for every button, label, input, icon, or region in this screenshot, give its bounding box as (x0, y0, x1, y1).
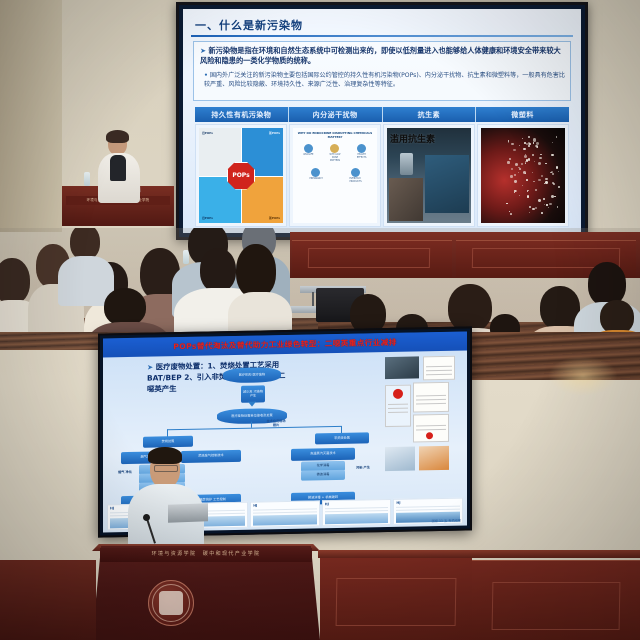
table-header-edc: 内分泌干扰物 (289, 107, 383, 122)
pops-stop-label: POPs (232, 172, 249, 179)
standard-thumb (253, 514, 317, 525)
upper-bullet-2: • 国内外广泛关注的新污染物主要包括国际公约管控的持久性有机污染物(POPs)、… (204, 72, 566, 89)
standard-card: HJ (322, 499, 392, 526)
diagram-connector-v0 (251, 422, 252, 428)
microplastic-particle (535, 207, 537, 209)
microplastic-particle (538, 162, 541, 165)
health-icon (357, 144, 366, 153)
edc-infographic-heading: WHY DO ENDOCRINE DISRUPTING CHEMICALS MA… (297, 131, 373, 140)
wood-panel-a-inlay (308, 248, 430, 268)
microplastics-photo (481, 128, 565, 223)
microplastic-particle (529, 206, 531, 208)
wood-counter-edge (318, 550, 640, 558)
certificate-2 (413, 382, 449, 413)
cell-microplastics-image (477, 124, 569, 227)
lower-laptop (168, 503, 208, 522)
pollutant-category-table: 持久性有机污染物 内分泌干扰物 抗生素 微塑料 (195, 107, 569, 227)
endocrine-disruptor-infographic: WHY DO ENDOCRINE DISRUPTING CHEMICALS MA… (293, 128, 377, 223)
diagram-node-source: 医疗机构 医疗废物 (223, 367, 281, 383)
pops-puzzle-graphic: 旧POPs 新POPs 旧POPs 新POPs POPs (199, 128, 283, 223)
vial-object (400, 153, 413, 175)
microplastic-particle (528, 145, 530, 147)
microplastic-particle (541, 212, 543, 214)
certificate-3 (413, 414, 449, 443)
microphone-head (143, 514, 150, 521)
red-seal-icon (426, 432, 433, 439)
microplastic-particle (535, 189, 537, 191)
microplastic-particle (506, 203, 507, 204)
microplastic-particle (511, 143, 513, 145)
microplastic-particle (508, 142, 509, 143)
microplastic-particle (527, 190, 528, 191)
microplastic-particle (548, 207, 549, 208)
upper-slide: 一、什么是新污染物 ➤ 新污染物是指在环境和自然生态系统中可检测出来的，即使以低… (183, 9, 581, 233)
microplastic-particle (524, 155, 527, 158)
wood-panel-lower-mid-inlay (336, 578, 457, 626)
bottle-icon (351, 168, 360, 177)
microplastic-particle (538, 179, 541, 182)
microplastic-particle (515, 163, 518, 166)
site-photo (385, 356, 419, 379)
standard-thumb (325, 513, 389, 524)
edc-icon-health: HEALTH EFFECTS (356, 144, 367, 163)
table-header-row: 持久性有机污染物 内分泌干扰物 抗生素 微塑料 (195, 107, 569, 122)
edc-icon-label-5: EVERYDAY PRODUCTS (350, 178, 361, 184)
microplastic-particle (558, 186, 560, 188)
puzzle-label-3: 旧POPs (202, 216, 213, 220)
edc-icon-lowdose: WHY LOW DOSE MATTERS (329, 144, 340, 163)
edc-icon-label-3: HEALTH EFFECTS (356, 154, 367, 160)
product-photo-1 (385, 447, 415, 472)
microplastic-particle (525, 173, 526, 174)
wall-light-glow (548, 356, 618, 396)
diagram-annotation-center: 技术应用现场照片 (265, 419, 287, 427)
microplastic-particle (556, 136, 557, 137)
microplastic-particle (543, 198, 545, 200)
certificate-1 (423, 356, 455, 381)
microplastic-particle (527, 195, 529, 197)
microplastic-particle (558, 171, 559, 172)
microplastic-particle (528, 158, 530, 160)
standard-code: HJ (325, 502, 329, 506)
microplastic-particle (533, 181, 534, 182)
microplastic-particle (529, 212, 530, 213)
diagram-node-steam-sterilize: 高温蒸汽灭菌技术 (291, 448, 355, 461)
microplastic-particle (539, 157, 542, 160)
table-header-antibiotics: 抗生素 (383, 107, 477, 122)
microplastic-particle (551, 154, 553, 156)
wood-panel-lower-left (0, 560, 96, 640)
microplastic-particle (510, 175, 512, 177)
upper-bullet-1: ➤ 新污染物是指在环境和自然生态系统中可检测出来的，即使以低剂量进入也能够给人体… (200, 46, 566, 67)
microplastic-particle (541, 175, 543, 177)
upper-projection-screen: 一、什么是新污染物 ➤ 新污染物是指在环境和自然生态系统中可检测出来的，即使以低… (176, 2, 588, 240)
cell-antibiotics-image: 滥用抗生素 (383, 124, 475, 227)
microplastic-particle (532, 154, 535, 157)
microplastic-particle (525, 163, 526, 164)
upper-slide-text-box: ➤ 新污染物是指在环境和自然生态系统中可检测出来的，即使以低剂量进入也能够给人体… (193, 41, 571, 101)
bullet-marker-1: ➤ (200, 46, 206, 55)
table-header-microplastics: 微塑料 (476, 107, 569, 122)
microplastic-particle (538, 199, 541, 202)
diagram-side-label-right: 污染 产生 (355, 465, 371, 469)
microplastic-particle (544, 204, 545, 205)
microplastic-particle (507, 161, 509, 163)
microplastic-particle (528, 136, 530, 138)
microplastic-particle (509, 211, 510, 212)
microplastic-particle (522, 138, 523, 139)
microplastic-particle (521, 163, 523, 165)
lower-presenter (128, 450, 206, 554)
diagram-connector-h1 (167, 426, 341, 430)
edc-icon-row-2: PREGNANCY EVERYDAY PRODUCTS (295, 168, 375, 184)
microplastic-particle (545, 178, 548, 181)
microplastic-particle (526, 159, 528, 161)
microplastic-particle (526, 179, 528, 181)
standard-code: HJ (253, 504, 257, 508)
microplastic-particle (557, 206, 559, 208)
edc-icon-row-1: WILDLIFE WHY LOW DOSE MATTERS HEALTH EFF… (295, 144, 375, 163)
puzzle-label-4: 新POPs (269, 216, 280, 220)
presenter-hair (148, 447, 182, 464)
microplastic-particle (509, 158, 511, 160)
puzzle-label-2: 新POPs (269, 131, 280, 135)
wall-left-column (0, 0, 62, 232)
lower-slide-footnote: 国家 11 五 专项成果 (432, 518, 461, 524)
microplastic-particle (536, 145, 538, 147)
national-emblem-icon (393, 389, 403, 399)
upper-bullet-2-text: 国内外广泛关注的新污染物主要包括国际公约管控的持久性有机污染物(POPs)、内分… (204, 72, 565, 88)
microplastic-particle (546, 204, 547, 205)
cell-pops-image: 旧POPs 新POPs 旧POPs 新POPs POPs (195, 124, 287, 227)
microplastic-particle (551, 171, 553, 173)
microplastic-particle (522, 185, 523, 186)
microplastic-particle (514, 174, 516, 176)
microplastic-particle (511, 168, 513, 170)
diagram-node-incineration: 焚烧处置 (143, 436, 193, 448)
lower-slide-title: POPs替代淘汰及替代助力工业绿色转型：二噁英重点行业减排 (173, 337, 396, 352)
microplastic-particle (519, 145, 520, 146)
microplastic-particle (554, 196, 556, 198)
puzzle-label-1: 旧POPs (202, 131, 213, 135)
warning-triangle-icon (330, 144, 339, 153)
surgery-photo-region (425, 155, 469, 214)
upper-slide-title: 一、什么是新污染物 (195, 17, 303, 33)
microplastic-particle (532, 172, 533, 173)
seal-inner-mark (159, 591, 183, 615)
microplastic-particle (510, 213, 512, 215)
microplastic-particle (556, 166, 559, 169)
podium-banner-text: 环境与资源学院 碳中和现代产业学院 (100, 550, 312, 557)
patient-photo-region (389, 178, 423, 221)
edc-icon-pregnancy: PREGNANCY (310, 168, 321, 184)
globe-icon (304, 144, 313, 153)
edc-icon-wildlife: WILDLIFE (303, 144, 314, 163)
audience-area (0, 228, 640, 332)
microplastic-particle (549, 203, 551, 205)
diagram-node-reduce: 减少及 污染物 产生 (241, 385, 265, 402)
cell-edc-image: WHY DO ENDOCRINE DISRUPTING CHEMICALS MA… (289, 124, 381, 227)
microplastic-particles (481, 128, 565, 223)
microplastic-particle (545, 163, 547, 165)
microplastic-particle (540, 154, 541, 155)
microplastic-particle (552, 142, 553, 143)
antibiotic-abuse-photo: 滥用抗生素 (387, 128, 471, 223)
wood-panel-lower-right-inlay (492, 582, 621, 630)
edc-icon-label-2: WHY LOW DOSE MATTERS (329, 154, 340, 163)
table-image-row: 旧POPs 新POPs 旧POPs 新POPs POPs WHY DO ENDO… (195, 122, 569, 227)
glasses-icon (154, 465, 178, 472)
pregnancy-icon (311, 168, 320, 177)
diagram-node-nonincineration: 非焚烧处置 (315, 432, 369, 444)
edc-icon-label-1: WILDLIFE (303, 154, 314, 157)
microplastic-particle (534, 161, 535, 162)
award-certificate (385, 385, 411, 427)
microplastic-particle (533, 138, 536, 141)
lower-slide-right-panel (383, 354, 463, 500)
lecture-hall-photo: 一、什么是新污染物 ➤ 新污染物是指在环境和自然生态系统中可检测出来的，即使以低… (0, 0, 640, 640)
bullet-marker-2: • (204, 72, 208, 79)
microplastic-particle (519, 195, 520, 196)
diagram-node-microwave: 微波消毒 (301, 470, 345, 481)
microplastic-particle (553, 183, 555, 185)
microplastic-particle (514, 180, 516, 182)
microplastic-particle (523, 148, 525, 150)
microplastic-particle (552, 173, 553, 174)
presenter-top-inner (110, 155, 126, 181)
upper-bullet-1-text: 新污染物是指在环境和自然生态系统中可检测出来的，即使以低剂量进入也能够给人体健康… (200, 46, 561, 65)
antibiotic-abuse-caption: 滥用抗生素 (390, 132, 435, 145)
microplastic-particle (545, 181, 548, 184)
presenter-hair (106, 130, 129, 143)
edc-icon-products: EVERYDAY PRODUCTS (350, 168, 361, 184)
microplastic-particle (514, 192, 515, 193)
university-seal (148, 580, 194, 626)
diagram-arrow-down-1 (248, 402, 256, 407)
edc-icon-label-4: PREGNANCY (310, 178, 321, 181)
product-photo-2 (419, 446, 449, 471)
upper-presenter (96, 132, 142, 204)
microplastic-particle (518, 172, 519, 173)
standard-code: HJ (396, 501, 400, 505)
microplastic-particle (533, 142, 535, 144)
title-underline (191, 35, 573, 37)
water-bottle-podium (84, 172, 90, 186)
standard-code: HJ (110, 506, 114, 510)
microplastic-particle (513, 149, 516, 152)
table-header-pops: 持久性有机污染物 (195, 107, 289, 122)
standard-card: HJ (250, 500, 320, 527)
